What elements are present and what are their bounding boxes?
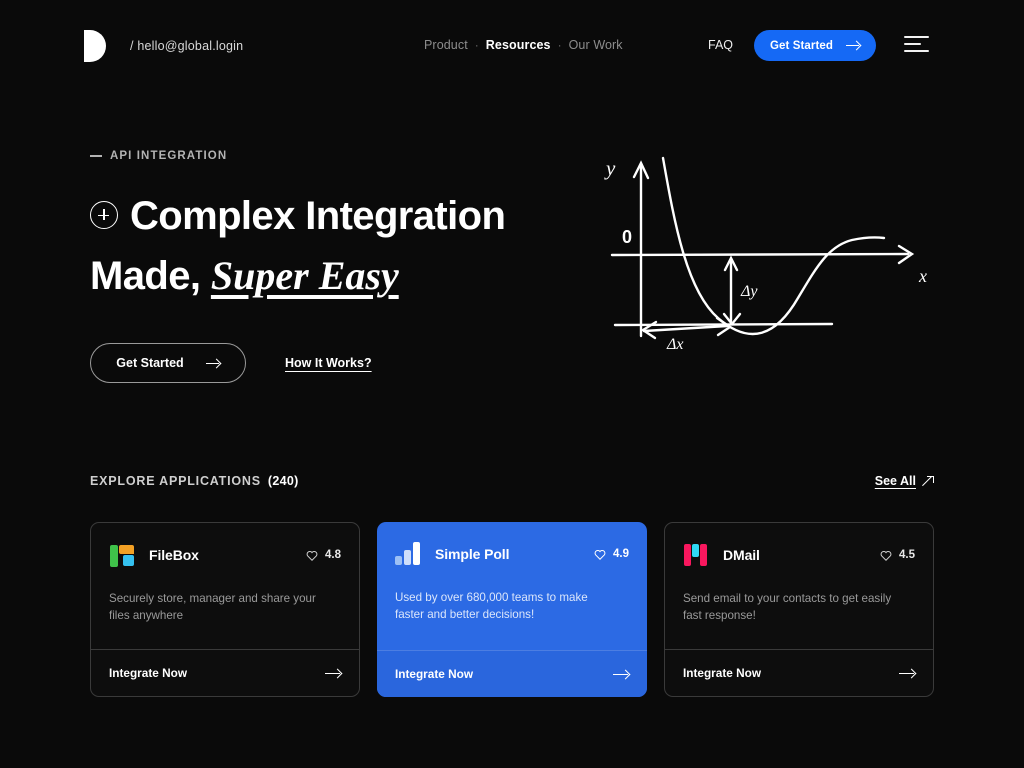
heart-icon[interactable] xyxy=(594,549,606,560)
nav-item-faq[interactable]: FAQ xyxy=(708,38,733,52)
nav-item-our-work[interactable]: Our Work xyxy=(569,38,623,52)
see-all-link[interactable]: See All xyxy=(875,474,934,488)
primary-nav: Product · Resources · Our Work xyxy=(424,38,623,52)
section-title: EXPLORE APPLICATIONS xyxy=(90,474,261,488)
header-get-started-button[interactable]: Get Started xyxy=(754,30,876,61)
arrow-right-icon xyxy=(613,669,629,679)
section-header: EXPLORE APPLICATIONS (240) xyxy=(90,474,299,488)
rating-value: 4.9 xyxy=(613,548,629,560)
app-name: DMail xyxy=(723,547,760,563)
app-card-dmail[interactable]: DMail 4.5 Send email to your contacts to… xyxy=(664,522,934,697)
dmail-icon xyxy=(683,542,709,568)
graph-y-label: y xyxy=(604,156,616,180)
arrow-right-icon xyxy=(206,358,220,368)
graph-x-label: x xyxy=(918,266,927,286)
rating-group: 4.9 xyxy=(594,548,629,560)
hero-eyebrow: API INTEGRATION xyxy=(90,150,227,162)
hero-get-started-label: Get Started xyxy=(116,356,183,370)
nav-separator: · xyxy=(475,39,479,51)
how-it-works-link[interactable]: How It Works? xyxy=(285,356,372,370)
card-body: FileBox 4.8 Securely store, manager and … xyxy=(91,523,359,649)
hamburger-menu-icon[interactable] xyxy=(904,36,929,52)
integrate-now-label: Integrate Now xyxy=(683,666,761,680)
arrow-up-right-icon xyxy=(923,476,934,487)
card-body: Simple Poll 4.9 Used by over 680,000 tea… xyxy=(377,522,647,650)
nav-separator: · xyxy=(558,39,562,51)
hamburger-line xyxy=(904,43,921,45)
graph-zero-label: 0 xyxy=(622,227,632,247)
baseline xyxy=(615,324,832,325)
curve xyxy=(663,158,884,334)
app-description: Send email to your contacts to get easil… xyxy=(683,590,898,624)
logo-email-text: / hello@global.login xyxy=(130,39,243,53)
hero-eyebrow-label: API INTEGRATION xyxy=(110,150,227,162)
nav-item-resources[interactable]: Resources xyxy=(486,38,551,52)
x-axis xyxy=(612,254,908,255)
hand-drawn-graph-illustration: y x 0 Δy Δx xyxy=(600,150,945,365)
hamburger-line xyxy=(904,36,929,38)
app-description: Used by over 680,000 teams to make faste… xyxy=(395,589,610,623)
app-name: FileBox xyxy=(149,547,199,563)
integrate-now-label: Integrate Now xyxy=(109,666,187,680)
delta-x-arrow xyxy=(644,326,727,331)
filebox-icon xyxy=(109,542,135,568)
heart-icon[interactable] xyxy=(880,550,892,561)
plus-circle-icon xyxy=(90,201,118,229)
card-header-row: DMail 4.5 xyxy=(683,542,915,568)
application-card-list: FileBox 4.8 Securely store, manager and … xyxy=(90,522,934,697)
hero-get-started-button[interactable]: Get Started xyxy=(90,343,246,383)
integrate-now-button[interactable]: Integrate Now xyxy=(665,649,933,696)
integrate-now-button[interactable]: Integrate Now xyxy=(377,650,647,697)
bar-chart-icon xyxy=(395,541,421,567)
rating-value: 4.5 xyxy=(899,549,915,561)
arrow-right-icon xyxy=(899,668,915,678)
graph-delta-y-label: Δy xyxy=(740,283,758,300)
hero-heading-line1: Complex Integration xyxy=(130,194,505,238)
hamburger-line xyxy=(904,50,929,52)
see-all-label: See All xyxy=(875,474,916,488)
logo-area[interactable]: / hello@global.login xyxy=(84,30,243,62)
header-get-started-label: Get Started xyxy=(770,40,833,52)
card-header-row: FileBox 4.8 xyxy=(109,542,341,568)
section-count-badge: (240) xyxy=(268,474,299,488)
rating-group: 4.8 xyxy=(306,549,341,561)
graph-delta-x-label: Δx xyxy=(666,336,684,353)
app-card-filebox[interactable]: FileBox 4.8 Securely store, manager and … xyxy=(90,522,360,697)
integrate-now-label: Integrate Now xyxy=(395,667,473,681)
hero-heading-line2: Made, xyxy=(90,254,200,298)
site-header: / hello@global.login Product · Resources… xyxy=(0,0,1024,92)
rating-value: 4.8 xyxy=(325,549,341,561)
nav-item-product[interactable]: Product xyxy=(424,38,468,52)
landing-page: / hello@global.login Product · Resources… xyxy=(0,0,1024,768)
eyebrow-dash-icon xyxy=(90,155,102,156)
heart-icon[interactable] xyxy=(306,550,318,561)
page-title: Complex Integration Made, Super Easy xyxy=(90,186,650,306)
app-description: Securely store, manager and share your f… xyxy=(109,590,324,624)
card-header-row: Simple Poll 4.9 xyxy=(395,541,629,567)
arrow-right-icon xyxy=(325,668,341,678)
arrow-right-icon xyxy=(846,41,860,51)
hero-heading-emphasis: Super Easy xyxy=(211,253,399,298)
integrate-now-button[interactable]: Integrate Now xyxy=(91,649,359,696)
brand-logo-icon xyxy=(84,30,106,62)
rating-group: 4.5 xyxy=(880,549,915,561)
app-card-simple-poll[interactable]: Simple Poll 4.9 Used by over 680,000 tea… xyxy=(377,522,647,697)
app-name: Simple Poll xyxy=(435,546,509,562)
graph-svg: y x 0 Δy Δx xyxy=(600,150,945,365)
card-body: DMail 4.5 Send email to your contacts to… xyxy=(665,523,933,649)
